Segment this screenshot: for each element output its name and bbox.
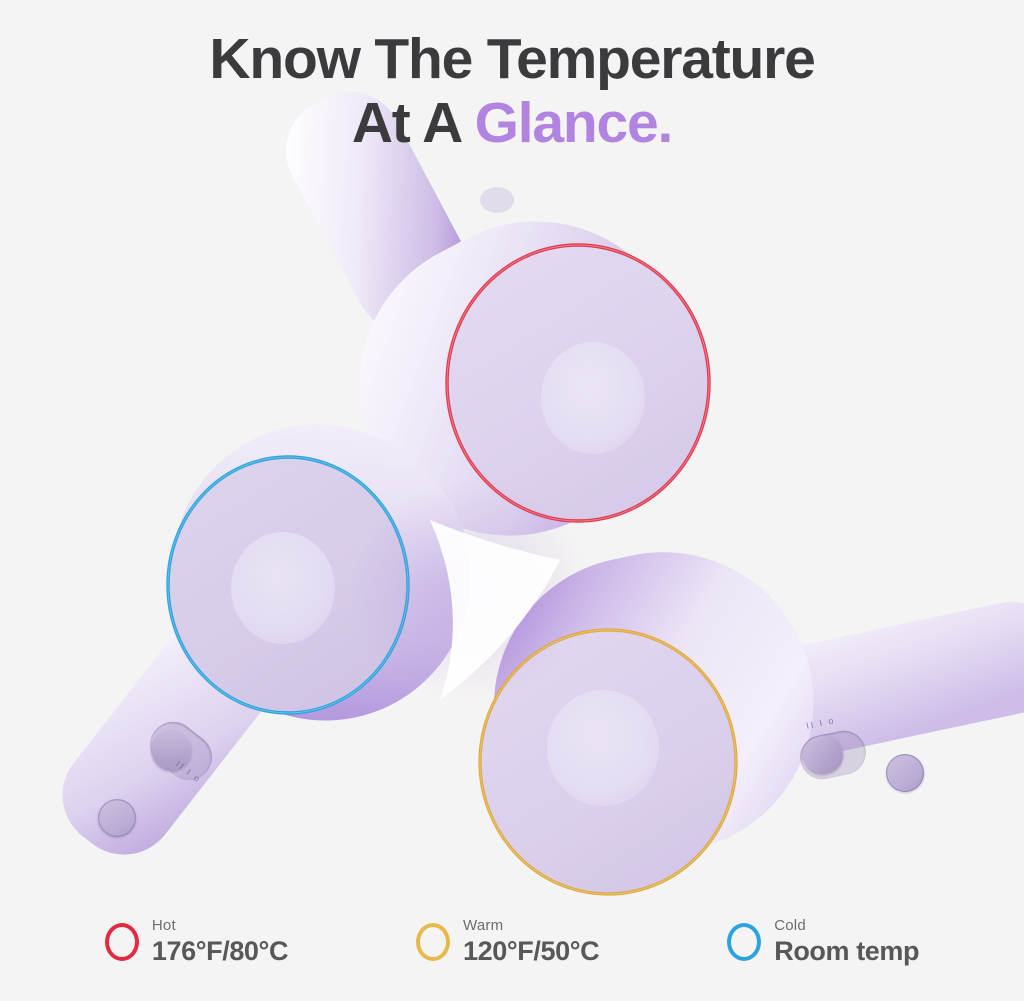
legend-item-cold: Cold Room temp [727,918,919,965]
cap-bump-detail [480,187,514,213]
temperature-legend: Hot 176°F/80°C Warm 120°F/50°C Cold Room… [0,918,1024,965]
legend-label-hot: Hot [152,918,288,933]
legend-ring-warm [416,923,450,961]
product-illustration: II I o II I o [0,0,1024,1001]
legend-label-cold: Cold [774,918,919,933]
product-poster: Know The Temperature At A Glance. [0,0,1024,1001]
cool-shot-button-left[interactable] [98,799,136,837]
legend-ring-cold [727,923,761,961]
legend-value-hot: 176°F/80°C [152,938,288,965]
legend-text-cold: Cold Room temp [774,918,919,965]
nozzle-face-hot [447,245,709,521]
legend-label-warm: Warm [463,918,599,933]
legend-value-warm: 120°F/50°C [463,938,599,965]
legend-item-warm: Warm 120°F/50°C [416,918,599,965]
legend-text-warm: Warm 120°F/50°C [463,918,599,965]
dryers-svg [0,0,1024,1001]
legend-item-hot: Hot 176°F/80°C [105,918,288,965]
legend-value-cold: Room temp [774,938,919,965]
legend-ring-hot [105,923,139,961]
legend-text-hot: Hot 176°F/80°C [152,918,288,965]
